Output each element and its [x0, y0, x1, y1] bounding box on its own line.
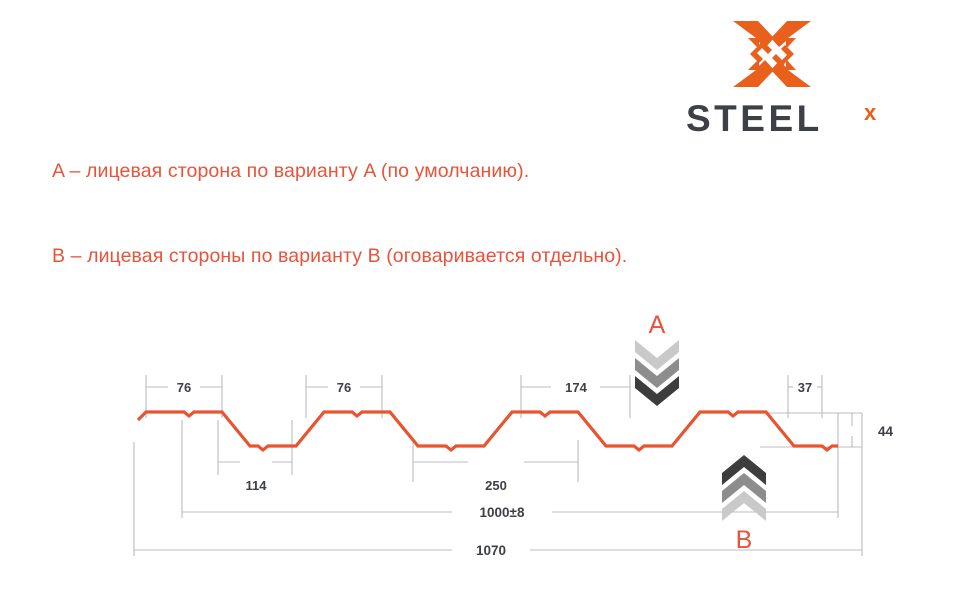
wordmark-x-superscript: x — [864, 100, 877, 125]
marker-b-label: B — [736, 526, 753, 554]
dimension-label-crest-2: 76 — [337, 380, 351, 395]
marker-a: A — [635, 311, 679, 406]
dimension-label-crest-pitch: 174 — [565, 380, 587, 395]
dimension-label-effective-width: 1000±8 — [480, 505, 525, 520]
marker-a-chevron-down-icon — [635, 340, 679, 406]
marker-a-label: A — [649, 311, 666, 339]
dimension-label-edge-lap: 37 — [798, 380, 812, 395]
profile-polyline — [138, 412, 838, 450]
dimension-label-trough-1: 114 — [246, 478, 268, 493]
marker-b-chevron-up-icon — [722, 455, 766, 521]
dimension-label-crest-1: 76 — [177, 380, 191, 395]
caption-variant-b: B – лицевая стороны по варианту B (огова… — [52, 245, 627, 268]
dimension-label-total-width: 1070 — [476, 543, 506, 558]
dimension-label-trough-pitch: 250 — [485, 478, 507, 493]
caption-variant-a: A – лицевая сторона по варианту A (по ум… — [52, 160, 529, 183]
profile-drawing: 76 76 174 37 114 250 44 1000±8 1070 A B — [0, 290, 970, 590]
marker-b: B — [722, 455, 766, 554]
steelx-wordmark: STEEL x — [686, 100, 901, 140]
wordmark-steel-text: STEEL — [686, 100, 823, 139]
steelx-x-mark-icon — [732, 18, 812, 90]
dimension-label-height: 44 — [878, 424, 894, 439]
brand-logo: STEEL x — [686, 18, 901, 143]
dimension-labels: 76 76 174 37 114 250 44 1000±8 1070 — [177, 380, 894, 558]
